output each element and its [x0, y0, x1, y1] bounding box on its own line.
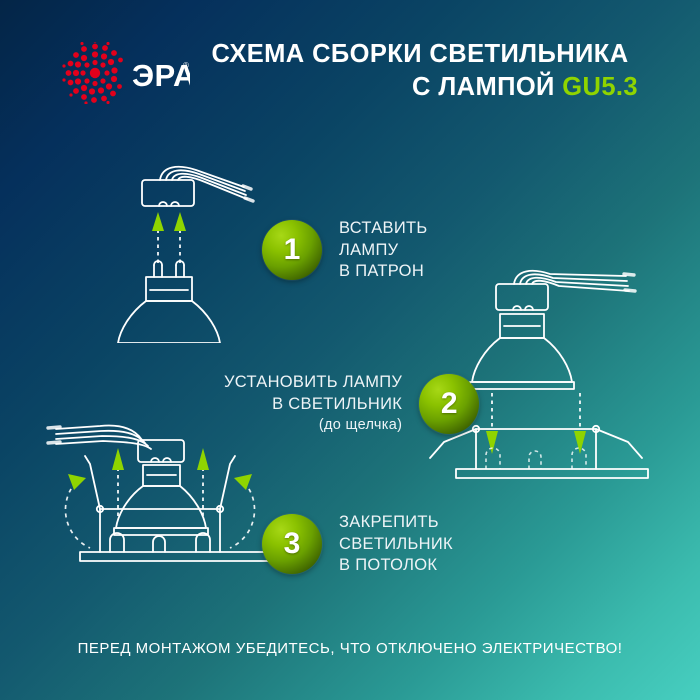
step-2-note: (до щелчка) [224, 415, 402, 437]
rotation-arc-right [230, 482, 255, 548]
step-3-number: 3 [284, 529, 301, 559]
svg-text:®: ® [183, 61, 189, 70]
lamp-rim [114, 528, 208, 535]
step-1: 1 ВСТАВИТЬ ЛАМПУ В ПАТРОН [262, 218, 428, 283]
poster-title: СХЕМА СБОРКИ СВЕТИЛЬНИКА С ЛАМПОЙ GU5.3 [196, 38, 644, 104]
step-2-badge: 2 [419, 374, 479, 434]
fixture-flange [456, 469, 648, 478]
step-1-line-1: ВСТАВИТЬ [339, 218, 428, 240]
title-line-2: С ЛАМПОЙ GU5.3 [196, 71, 644, 104]
lamp-reflector [118, 301, 220, 343]
socket-body [142, 180, 194, 206]
lamp-rim [470, 382, 574, 389]
ghost-pin-right [572, 448, 586, 469]
ghost-pin-left [486, 448, 500, 469]
step-2-line-1: УСТАНОВИТЬ ЛАМПУ [224, 372, 402, 394]
lamp-collar [146, 277, 192, 301]
rotation-arc-left [65, 482, 90, 548]
step-2-text: УСТАНОВИТЬ ЛАМПУ В СВЕТИЛЬНИК (до щелчка… [224, 372, 402, 437]
spring-clip-right [596, 429, 642, 458]
step-1-line-3: В ПАТРОН [339, 261, 428, 283]
step-1-line-2: ЛАМПУ [339, 240, 428, 262]
spring-clip-right-raised [220, 456, 235, 509]
fixture-into-ceiling-diagram [38, 412, 293, 597]
poster-canvas: ЭРА ® СХЕМА СБОРКИ СВЕТИЛЬНИКА С ЛАМПОЙ … [0, 0, 700, 700]
step-1-text: ВСТАВИТЬ ЛАМПУ В ПАТРОН [339, 218, 428, 283]
fixture-flange [80, 552, 272, 561]
title-lamp-type-accent: GU5.3 [562, 73, 638, 101]
lamp-reflector [472, 338, 572, 382]
fixture-pin-mid [153, 536, 165, 552]
lamp-pin-left [154, 265, 162, 277]
up-arrows [152, 212, 186, 231]
step-3: 3 ЗАКРЕПИТЬ СВЕТИЛЬНИК В ПОТОЛОК [262, 512, 453, 577]
step-1-number: 1 [284, 235, 301, 265]
up-arrows [112, 448, 209, 470]
lamp-reflector [116, 486, 206, 528]
lamp-into-socket-diagram [104, 158, 284, 348]
step-3-badge: 3 [262, 514, 322, 574]
step-3-line-3: В ПОТОЛОК [339, 555, 453, 577]
step-1-badge: 1 [262, 220, 322, 280]
socket-body [496, 284, 548, 310]
step-2-number: 2 [441, 389, 458, 419]
step-2: 2 УСТАНОВИТЬ ЛАМПУ В СВЕТИЛЬНИК (до щелч… [224, 372, 479, 437]
step-3-text: ЗАКРЕПИТЬ СВЕТИЛЬНИК В ПОТОЛОК [339, 512, 453, 577]
footer-warning: ПЕРЕД МОНТАЖОМ УБЕДИТЕСЬ, ЧТО ОТКЛЮЧЕНО … [0, 640, 700, 657]
ghost-pin-mid [529, 451, 541, 469]
title-line-2-prefix: С ЛАМПОЙ [412, 73, 555, 101]
step-3-line-1: ЗАКРЕПИТЬ [339, 512, 453, 534]
spring-clip-left-raised [85, 456, 100, 509]
era-sunburst-logo: ЭРА ® [62, 42, 190, 104]
svg-text:ЭРА: ЭРА [132, 58, 190, 93]
lamp-pin-right [176, 265, 184, 277]
poster-header: ЭРА ® СХЕМА СБОРКИ СВЕТИЛЬНИКА С ЛАМПОЙ … [0, 34, 700, 134]
step-3-line-2: СВЕТИЛЬНИК [339, 534, 453, 556]
title-line-1: СХЕМА СБОРКИ СВЕТИЛЬНИКА [196, 38, 644, 71]
step-2-line-2: В СВЕТИЛЬНИК [224, 394, 402, 416]
